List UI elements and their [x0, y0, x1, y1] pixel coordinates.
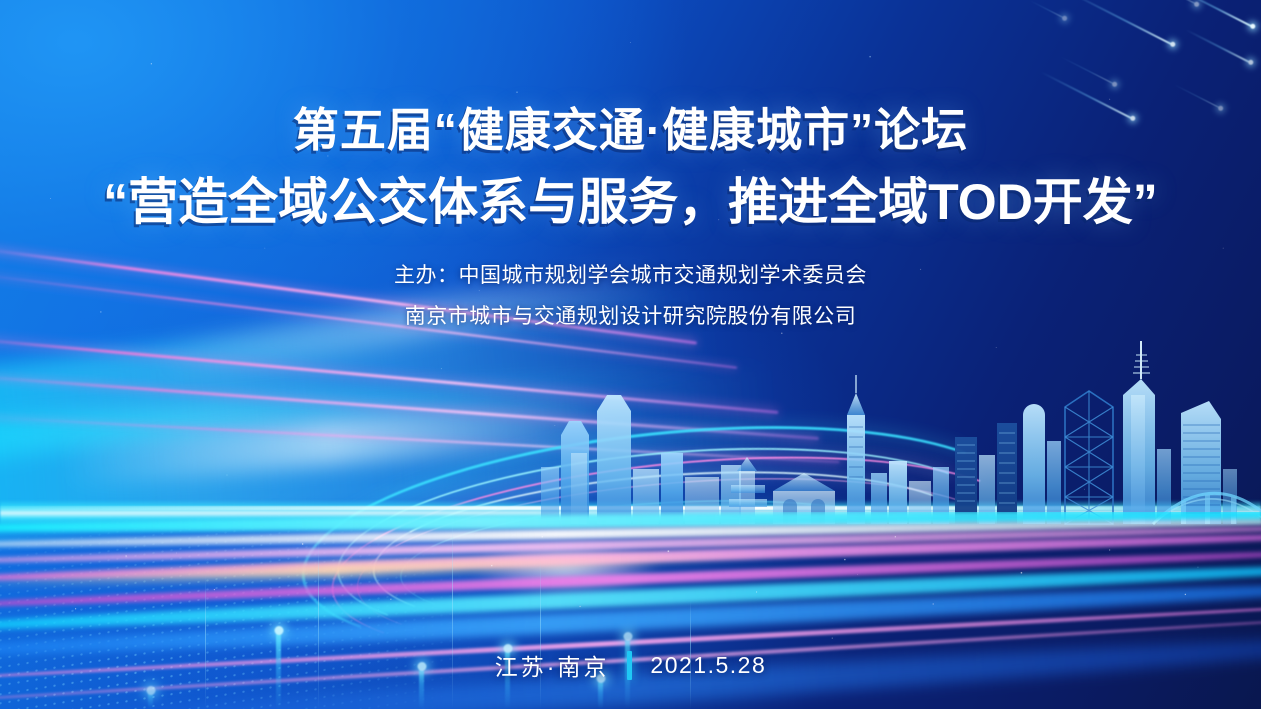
- beam-hairline: [540, 560, 541, 709]
- white-sweep: [59, 394, 621, 489]
- conference-poster: 第五届“健康交通·健康城市”论坛 “营造全域公交体系与服务，推进全域TOD开发”…: [0, 0, 1261, 709]
- event-location: 江苏·南京: [495, 648, 610, 682]
- pink-trail: [0, 371, 819, 440]
- light-beam: [598, 678, 603, 709]
- host-organizer-line1: 主办：中国城市规划学会城市交通规划学术委员会: [0, 265, 1261, 286]
- light-beam: [148, 690, 153, 709]
- footer-divider: [627, 651, 632, 680]
- beam-cap-dot: [146, 686, 155, 695]
- page-title-line1: 第五届“健康交通·健康城市”论坛: [0, 107, 1261, 153]
- pink-trail: [0, 333, 778, 414]
- event-date: 2021.5.28: [650, 652, 766, 679]
- beam-hairline: [205, 575, 206, 709]
- beam-hairline: [318, 540, 319, 709]
- host-organizer-line2: 南京市城市与交通规划设计研究院股份有限公司: [0, 306, 1261, 327]
- beam-cap-dot: [274, 626, 283, 635]
- footer-meta: 江苏·南京 2021.5.28: [0, 648, 1261, 682]
- beam-cap-dot: [623, 632, 632, 641]
- poster-text-block: 第五届“健康交通·健康城市”论坛 “营造全域公交体系与服务，推进全域TOD开发”…: [0, 0, 1261, 327]
- horizon-hairline: [0, 506, 1261, 510]
- pink-trail: [0, 415, 839, 463]
- page-title-line2: “营造全域公交体系与服务，推进全域TOD开发”: [0, 177, 1261, 227]
